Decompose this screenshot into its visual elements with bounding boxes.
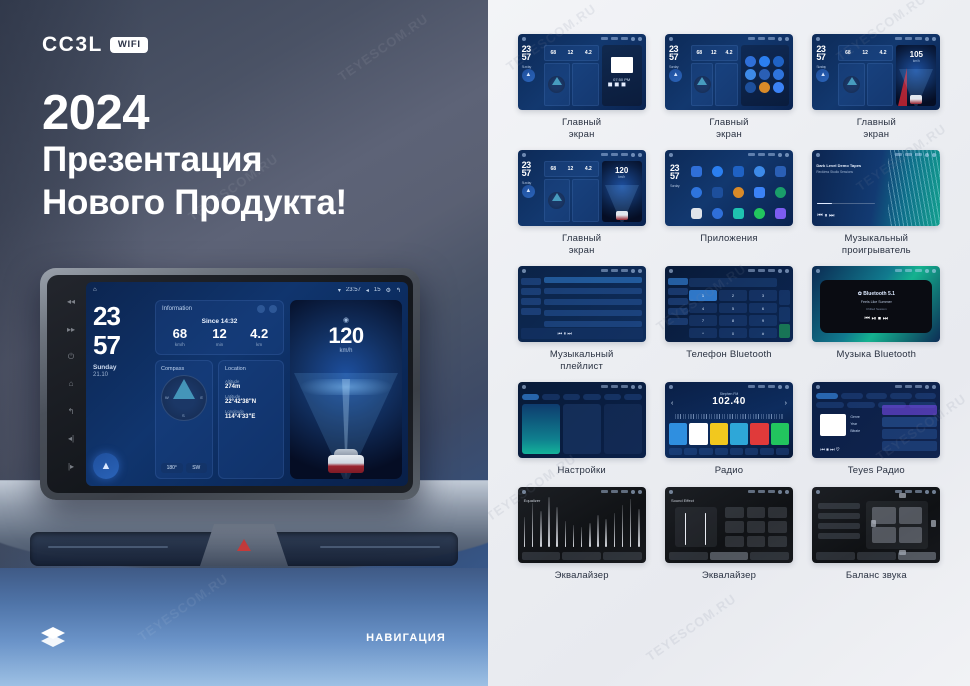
- compass-title: Compass: [161, 366, 207, 372]
- home-button[interactable]: ⌂: [67, 379, 76, 388]
- screenshot-thumbnail[interactable]: GenreYearBitrate ⏮ ⏹ ⏭ ♡: [812, 382, 940, 458]
- app-icon[interactable]: [712, 166, 723, 177]
- expand-icon[interactable]: [269, 305, 277, 313]
- app-icon[interactable]: [754, 187, 765, 198]
- longitude-value: 114°4'33"E: [225, 414, 277, 420]
- thumb-status-bar: [812, 382, 940, 391]
- volume-icon: ◂: [366, 287, 369, 294]
- thumbnail-caption: Настройки: [557, 465, 605, 477]
- app-icon[interactable]: [775, 187, 786, 198]
- radio-preset[interactable]: [730, 423, 748, 445]
- station-row[interactable]: [882, 405, 937, 415]
- stat-distance-unit: km: [239, 342, 279, 347]
- thumb-nav-icon[interactable]: ▲: [669, 69, 682, 82]
- gallery-item[interactable]: 2357Sunday ▲ 68124.2 105km/h Главныйэкра…: [803, 34, 950, 140]
- eq-preset-button[interactable]: [725, 507, 744, 518]
- gallery-panel: 2357Sunday ▲ 68124.2 07:50 PM ◼ ◼ ◼Главн…: [488, 0, 970, 686]
- eq-band-slider[interactable]: [589, 523, 591, 547]
- product-logo: CC3L WIFI: [42, 33, 148, 57]
- radio-preset[interactable]: [689, 423, 707, 445]
- latitude-row: Latitude 22°42'38"N: [225, 394, 277, 405]
- dial-key[interactable]: #: [749, 328, 777, 339]
- dial-key[interactable]: 5: [719, 303, 747, 314]
- dial-key[interactable]: 6: [749, 303, 777, 314]
- prev-track-button[interactable]: ◂◂: [67, 297, 76, 306]
- thumb-nav-icon[interactable]: ▲: [816, 69, 829, 82]
- screenshot-grid: 2357Sunday ▲ 68124.2 07:50 PM ◼ ◼ ◼Главн…: [488, 34, 970, 582]
- status-time: 23:57: [346, 287, 361, 293]
- thumb-status-bar: [518, 382, 646, 391]
- app-icon[interactable]: [733, 187, 744, 198]
- dial-key[interactable]: 1: [689, 290, 717, 301]
- stat-distance: 4.2 km: [239, 327, 279, 347]
- station-row[interactable]: [882, 441, 937, 451]
- widgets-column: Information Since 14:32 68 km/h: [155, 300, 284, 479]
- radio-preset[interactable]: [750, 423, 768, 445]
- screenshot-thumbnail[interactable]: Dark Level Demo TapesReckless Studio Ses…: [812, 150, 940, 226]
- app-icon[interactable]: [712, 187, 723, 198]
- latitude-value: 22°42'38"N: [225, 399, 277, 405]
- eq-preset-button[interactable]: [747, 536, 766, 547]
- dashboard-lower: [0, 568, 488, 686]
- thumbnail-caption: Эквалайзер: [702, 570, 756, 582]
- stat-speed-unit: km/h: [160, 342, 200, 347]
- settings-tab[interactable]: [604, 394, 622, 400]
- screenshot-thumbnail[interactable]: [812, 487, 940, 563]
- clock-day: Sunday: [93, 364, 149, 371]
- dial-key[interactable]: 7: [689, 315, 717, 326]
- headline-line1: Презентация: [42, 139, 347, 182]
- playlist-row[interactable]: [544, 310, 642, 316]
- eq-band-slider[interactable]: [622, 505, 624, 547]
- home-icon[interactable]: ⌂: [93, 287, 97, 293]
- eq-preset-button[interactable]: [747, 521, 766, 532]
- speed-readout: ◉ 120 km/h: [290, 316, 402, 354]
- thumb-status-bar: [665, 34, 793, 43]
- stat-duration: 12 min: [200, 327, 240, 347]
- eq-band-slider[interactable]: [524, 517, 526, 547]
- app-icon[interactable]: [775, 208, 786, 219]
- compass-readouts: 180° SW: [161, 463, 207, 473]
- head-unit: ◂◂ ▸▸ ⏻ ⌂ ↰ ◂| |▸ ⌂ ▾ 23:57 ◂ 15 ⚙ ↰: [40, 268, 420, 500]
- screenshot-thumbnail[interactable]: 2357Sunday ▲ 68124.2 07:50 PM ◼ ◼ ◼: [518, 34, 646, 110]
- thumb-driving-view: 120km/h: [602, 161, 642, 222]
- thumb-status-bar: [518, 487, 646, 496]
- thumbnail-caption: Баланс звука: [846, 570, 907, 582]
- watermark: TEYESCOM.RU: [643, 591, 739, 664]
- thumbnail-caption: Музыка Bluetooth: [837, 349, 917, 361]
- gallery-item[interactable]: Dark Level Demo TapesReckless Studio Ses…: [803, 150, 950, 256]
- volume-down-button[interactable]: ◂|: [67, 434, 76, 443]
- screenshot-thumbnail[interactable]: 2357Sunday ▲ 68124.2 120km/h: [518, 150, 646, 226]
- settings-tab[interactable]: [522, 394, 540, 400]
- station-row[interactable]: [882, 417, 937, 427]
- compass-card[interactable]: Compass W E S 180° SW: [155, 360, 213, 479]
- app-icon[interactable]: [754, 208, 765, 219]
- eq-band-slider[interactable]: [614, 513, 616, 547]
- bt-music-card: ✿ Bluetooth 5.1Feels Like SummerChilled …: [820, 280, 932, 333]
- information-card[interactable]: Information Since 14:32 68 km/h: [155, 300, 284, 355]
- stat-distance-value: 4.2: [239, 327, 279, 341]
- thumbnail-caption: Музыкальныйплейлист: [550, 349, 614, 372]
- eq-band-slider[interactable]: [556, 507, 558, 547]
- eq-preset-button[interactable]: [725, 521, 744, 532]
- next-track-button[interactable]: ▸▸: [67, 325, 76, 334]
- thumb-status-bar: [665, 382, 793, 391]
- app-icon[interactable]: [691, 166, 702, 177]
- compass-s: S: [182, 413, 185, 418]
- thumbnail-caption: Teyes Радио: [848, 465, 905, 477]
- gallery-item[interactable]: 2357Sunday ▲ 68124.2 07:50 PM ◼ ◼ ◼Главн…: [508, 34, 655, 140]
- driving-view[interactable]: ◉ 120 km/h: [290, 300, 402, 479]
- status-volume: 15: [374, 287, 381, 293]
- settings-tab[interactable]: [542, 394, 560, 400]
- dial-key[interactable]: 0: [719, 328, 747, 339]
- screenshot-thumbnail[interactable]: 2357Sunday: [665, 150, 793, 226]
- thumbnail-caption: Эквалайзер: [555, 570, 609, 582]
- dial-key[interactable]: *: [689, 328, 717, 339]
- navigation-shortcut-icon[interactable]: ▲: [93, 453, 119, 479]
- thumb-nav-icon[interactable]: ▲: [522, 185, 535, 198]
- eq-band-slider[interactable]: [605, 519, 607, 547]
- screenshot-thumbnail[interactable]: Sound Effect: [665, 487, 793, 563]
- eq-band-slider[interactable]: [638, 509, 640, 547]
- more-panel[interactable]: [604, 404, 642, 454]
- app-icon[interactable]: [775, 166, 786, 177]
- stat-duration-value: 12: [200, 327, 240, 341]
- screenshot-thumbnail[interactable]: 123456789*0#: [665, 266, 793, 342]
- power-button[interactable]: ⏻: [67, 352, 76, 361]
- refresh-icon[interactable]: [257, 305, 265, 313]
- screenshot-thumbnail[interactable]: ⏮ ⏸ ⏭: [518, 266, 646, 342]
- car-dashboard: [0, 480, 488, 686]
- compass-rose-icon: W E S: [161, 375, 207, 421]
- radio-preset[interactable]: [669, 423, 687, 445]
- screenshot-thumbnail[interactable]: 2357Sunday ▲ 68124.2 105km/h: [812, 34, 940, 110]
- trip-stats: 68 km/h 12 min 4.2 km: [156, 327, 283, 354]
- altitude-value: 274m: [225, 384, 277, 390]
- eq-band-slider[interactable]: [573, 525, 575, 547]
- bottom-widgets: Compass W E S 180° SW: [155, 360, 284, 479]
- logo-text: CC3L: [42, 33, 103, 57]
- gallery-item[interactable]: ✿ Bluetooth 5.1Feels Like SummerChilled …: [803, 266, 950, 372]
- app-icon[interactable]: [733, 166, 744, 177]
- wifi-badge: WIFI: [110, 37, 148, 53]
- eq-band-slider[interactable]: [597, 515, 599, 547]
- screenshot-thumbnail[interactable]: [518, 382, 646, 458]
- gallery-item[interactable]: 2357Sunday ▲ 68124.2 Главныйэкран: [655, 34, 802, 140]
- information-title: Information: [162, 306, 253, 312]
- head-unit-screen[interactable]: ⌂ ▾ 23:57 ◂ 15 ⚙ ↰ 23 57 Sunday 21.10 ▲: [86, 282, 408, 486]
- eq-preset-button[interactable]: [768, 521, 787, 532]
- thumb-status-bar: [665, 150, 793, 159]
- gallery-item[interactable]: GenreYearBitrate ⏮ ⏹ ⏭ ♡Teyes Радио: [803, 382, 950, 477]
- eq-preset-button[interactable]: [768, 536, 787, 547]
- altitude-row: Altitude 274m: [225, 379, 277, 390]
- compass-needle-icon: [173, 379, 195, 399]
- clock-date: 21.10: [93, 372, 149, 378]
- back-button[interactable]: ↰: [67, 407, 76, 416]
- compass-w: W: [165, 395, 169, 400]
- settings-tab[interactable]: [583, 394, 601, 400]
- settings-tab[interactable]: [563, 394, 581, 400]
- gallery-item[interactable]: 2357Sunday Приложения: [655, 150, 802, 256]
- thumb-status-bar: [812, 266, 940, 275]
- playlist-row[interactable]: [544, 321, 642, 327]
- gallery-item[interactable]: Sound Effect Эквалайзер: [655, 487, 802, 582]
- clock-column: 23 57 Sunday 21.10 ▲: [93, 300, 149, 479]
- gallery-item[interactable]: 123456789*0# Телефон Bluetooth: [655, 266, 802, 372]
- thumb-status-bar: [518, 266, 646, 275]
- thumbnail-caption: Радио: [715, 465, 743, 477]
- headline-line2: Нового Продукта!: [42, 182, 347, 225]
- dial-key[interactable]: 8: [719, 315, 747, 326]
- thumb-status-bar: [665, 266, 793, 275]
- thumb-nav-icon[interactable]: ▲: [522, 69, 535, 82]
- thumb-driving-view: 105km/h: [896, 45, 936, 106]
- gallery-item[interactable]: 2357Sunday ▲ 68124.2 120km/h Главныйэкра…: [508, 150, 655, 256]
- radio-preset[interactable]: [710, 423, 728, 445]
- volume-up-button[interactable]: |▸: [67, 462, 76, 471]
- gallery-item[interactable]: Equalizer Эквалайзер: [508, 487, 655, 582]
- thumb-status-bar: [518, 34, 646, 43]
- eq-preset-button[interactable]: [747, 507, 766, 518]
- gallery-item[interactable]: Баланс звука: [803, 487, 950, 582]
- compass-direction: SW: [186, 463, 208, 473]
- thumbnail-caption: Главныйэкран: [562, 117, 601, 140]
- headline-year: 2024: [42, 88, 347, 139]
- stat-speed-value: 68: [160, 327, 200, 341]
- clock-minutes: 57: [93, 333, 149, 358]
- car-illustration: [328, 445, 364, 473]
- thumb-status-bar: [812, 487, 940, 496]
- stat-speed: 68 km/h: [160, 327, 200, 347]
- app-icon[interactable]: [754, 166, 765, 177]
- clock-hours: 23: [93, 304, 149, 329]
- eq-band-slider[interactable]: [565, 521, 567, 547]
- app-icon[interactable]: [691, 208, 702, 219]
- gallery-item[interactable]: ⏮ ⏸ ⏭Музыкальныйплейлист: [508, 266, 655, 372]
- location-title: Location: [225, 366, 277, 372]
- app-icon[interactable]: [691, 187, 702, 198]
- back-icon[interactable]: ↰: [396, 287, 401, 294]
- thumbnail-caption: Телефон Bluetooth: [686, 349, 772, 361]
- screenshot-thumbnail[interactable]: ✿ Bluetooth 5.1Feels Like SummerChilled …: [812, 266, 940, 342]
- headline: 2024 Презентация Нового Продукта!: [42, 88, 347, 225]
- status-bar: ⌂ ▾ 23:57 ◂ 15 ⚙ ↰: [86, 282, 408, 298]
- carplay-panel[interactable]: [563, 404, 601, 454]
- compass-e: E: [200, 395, 203, 400]
- hero-panel: CC3L WIFI 2024 Презентация Нового Продук…: [0, 0, 488, 686]
- eq-preset-button[interactable]: [768, 507, 787, 518]
- eq-band-slider[interactable]: [532, 503, 534, 547]
- speed-unit: km/h: [290, 348, 402, 354]
- screenshot-thumbnail[interactable]: Stephen FM102.40 ‹ ›: [665, 382, 793, 458]
- eq-preset-button[interactable]: [725, 536, 744, 547]
- hazard-triangle-icon: [237, 539, 251, 551]
- thumbnail-caption: Главныйэкран: [857, 117, 896, 140]
- wifi-panel[interactable]: [522, 404, 560, 454]
- speed-icon: ◉: [290, 316, 402, 324]
- screenshot-thumbnail[interactable]: 2357Sunday ▲ 68124.2: [665, 34, 793, 110]
- eq-band-slider[interactable]: [548, 497, 550, 547]
- settings-icon[interactable]: ⚙: [386, 287, 391, 294]
- wifi-icon: ▾: [338, 287, 341, 294]
- eq-band-slider[interactable]: [630, 499, 632, 547]
- dial-key[interactable]: 9: [749, 315, 777, 326]
- eq-band-slider[interactable]: [540, 511, 542, 547]
- dial-key[interactable]: 4: [689, 303, 717, 314]
- longitude-row: Longitude 114°4'33"E: [225, 409, 277, 420]
- hazard-button[interactable]: [200, 524, 288, 566]
- station-row[interactable]: [882, 429, 937, 439]
- thumbnail-caption: Главныйэкран: [562, 233, 601, 256]
- location-card[interactable]: Location Altitude 274m Latitude 22°42'38…: [218, 360, 284, 479]
- eq-band-slider[interactable]: [581, 527, 583, 547]
- thumb-status-bar: [812, 34, 940, 43]
- thumbnail-caption: Музыкальныйпроигрыватель: [842, 233, 911, 256]
- navigation-label: НАВИГАЦИЯ: [366, 632, 446, 644]
- app-icon[interactable]: [712, 208, 723, 219]
- gallery-item[interactable]: Stephen FM102.40 ‹ › Радио: [655, 382, 802, 477]
- gallery-item[interactable]: Настройки: [508, 382, 655, 477]
- app-icon[interactable]: [733, 208, 744, 219]
- radio-preset[interactable]: [771, 423, 789, 445]
- compass-heading: 180°: [161, 463, 183, 473]
- layers-icon[interactable]: [40, 626, 66, 648]
- playlist-row[interactable]: [544, 288, 642, 294]
- presentation-slide: CC3L WIFI 2024 Презентация Нового Продук…: [0, 0, 970, 686]
- dial-key[interactable]: 3: [749, 290, 777, 301]
- dial-key[interactable]: 2: [719, 290, 747, 301]
- thumb-status-bar: [518, 150, 646, 159]
- screen-body: 23 57 Sunday 21.10 ▲ Information: [93, 300, 402, 479]
- thumbnail-caption: Главныйэкран: [709, 117, 748, 140]
- hardware-buttons[interactable]: ◂◂ ▸▸ ⏻ ⌂ ↰ ◂| |▸: [58, 288, 84, 480]
- stat-duration-unit: min: [200, 342, 240, 347]
- app-grid[interactable]: [687, 161, 790, 223]
- playlist-row[interactable]: [544, 299, 642, 305]
- thumbnail-caption: Приложения: [700, 233, 758, 245]
- settings-tab[interactable]: [624, 394, 642, 400]
- thumb-status-bar: [665, 487, 793, 496]
- screenshot-thumbnail[interactable]: Equalizer: [518, 487, 646, 563]
- speed-value: 120: [290, 324, 402, 347]
